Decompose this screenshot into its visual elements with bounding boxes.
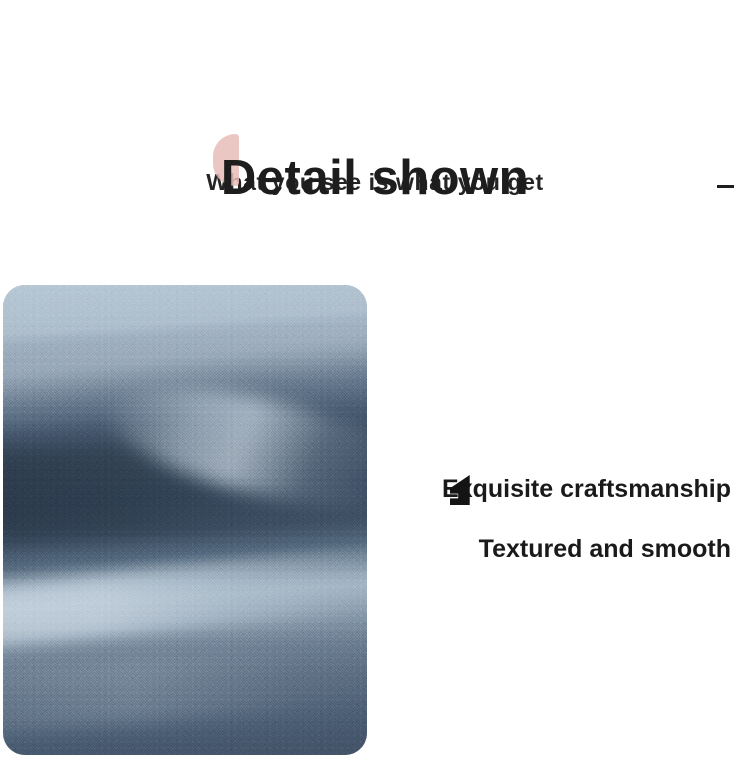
feature-item-texture: Textured and smooth xyxy=(400,530,750,568)
fabric-detail-image xyxy=(3,285,367,755)
title-block: Detail shown xyxy=(0,72,750,142)
feature-label-texture: Textured and smooth xyxy=(479,535,731,563)
feature-label-craftsmanship: Exquisite craftsmanship xyxy=(442,475,731,503)
feature-list: Exquisite craftsmanship Textured and smo… xyxy=(400,470,750,568)
feature-item-craftsmanship: Exquisite craftsmanship xyxy=(400,470,750,508)
fabric-grain-texture xyxy=(3,285,367,755)
page-title: Detail shown xyxy=(0,148,750,208)
